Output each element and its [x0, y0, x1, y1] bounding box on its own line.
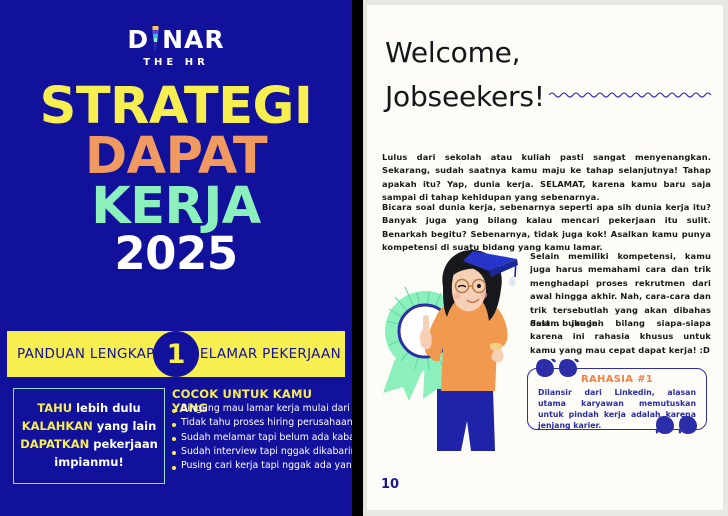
cover-title: STRATEGI DAPAT KERJA 2025 — [0, 82, 352, 276]
graduate-woman-illustration — [377, 243, 529, 453]
title-line-1: STRATEGI — [0, 82, 352, 132]
paragraph-1: Lulus dari sekolah atau kuliah pasti san… — [382, 151, 711, 205]
promise-rest: lebih dulu — [72, 401, 141, 415]
wavy-underline-icon — [549, 72, 712, 109]
book-gutter — [352, 0, 363, 516]
list-item-label: Sudah melamar tapi belum ada kabar — [181, 433, 352, 444]
promise-line: DAPATKAN pekerjaan — [20, 436, 158, 454]
brand-logo: D NAR THE HR — [0, 26, 352, 68]
necktie-icon — [150, 26, 161, 52]
page-number: 10 — [381, 477, 399, 492]
quote-close-icon — [654, 414, 700, 441]
list-item-label: Sudah interview tapi nggak dikabarin — [181, 447, 352, 458]
checklist: Bingung mau lamar kerja mulai dari mana … — [172, 404, 352, 476]
cover-banner: PANDUAN LENGKAP MELAMAR PEKERJAAN 1 — [7, 331, 345, 377]
page-title: Welcome, Jobseekers! — [385, 35, 712, 116]
book-content-page: Welcome, Jobseekers! Lulus dari sekolah … — [363, 0, 728, 516]
bullet-dot-icon — [172, 423, 176, 427]
title-line-2: DAPAT — [0, 132, 352, 182]
banner-right-label: MELAMAR PEKERJAAN — [188, 346, 345, 362]
quote-open-icon — [534, 357, 580, 384]
list-item: Sudah melamar tapi belum ada kabar — [172, 433, 352, 444]
promise-highlight: DAPATKAN — [20, 437, 89, 451]
title-line-4-year: 2025 — [0, 232, 352, 276]
book-cover-page: D NAR THE HR STRATEGI DAPAT KERJA 2025 — [0, 0, 352, 516]
promise-line: impianmu! — [54, 454, 123, 472]
promise-rest: impianmu! — [54, 455, 123, 469]
list-item: Pusing cari kerja tapi nggak ada yang te… — [172, 461, 352, 472]
list-item: Bingung mau lamar kerja mulai dari mana — [172, 404, 352, 415]
banner-number-badge: 1 — [153, 331, 199, 377]
logo-text-after: NAR — [162, 27, 225, 52]
promise-highlight: TAHU — [37, 401, 72, 415]
promise-line: KALAHKAN yang lain — [22, 418, 157, 436]
list-item-label: Bingung mau lamar kerja mulai dari mana — [181, 404, 352, 415]
banner-left-label: PANDUAN LENGKAP — [7, 346, 155, 362]
title-line-3: KERJA — [0, 182, 352, 232]
book-spread: D NAR THE HR STRATEGI DAPAT KERJA 2025 — [0, 0, 728, 516]
list-item-label: Tidak tahu proses hiring perusahaan — [181, 418, 352, 429]
bullet-dot-icon — [172, 409, 176, 413]
page-title-line-2: Jobseekers! — [385, 79, 545, 116]
list-item: Sudah interview tapi nggak dikabarin — [172, 447, 352, 458]
secret-tip-card: RAHASIA #1 Dilansir dari Linkedin, alasa… — [527, 368, 707, 430]
logo-wordmark: D NAR — [127, 26, 224, 52]
bullet-dot-icon — [172, 466, 176, 470]
promise-rest: pekerjaan — [89, 437, 158, 451]
page-title-line-1: Welcome, — [385, 35, 712, 72]
list-item: Tidak tahu proses hiring perusahaan — [172, 418, 352, 429]
list-item-label: Pusing cari kerja tapi nggak ada yang te… — [181, 461, 352, 472]
promise-rest: yang lain — [93, 419, 157, 433]
cover-promise-box: TAHU lebih dulu KALAHKAN yang lain DAPAT… — [13, 388, 165, 484]
logo-subtitle: THE HR — [143, 57, 209, 68]
bullet-dot-icon — [172, 451, 176, 455]
promise-highlight: KALAHKAN — [22, 419, 93, 433]
promise-line: TAHU lebih dulu — [37, 400, 141, 418]
bullet-dot-icon — [172, 437, 176, 441]
paragraph-4: Ssst... jangan bilang siapa-siapa karena… — [530, 317, 711, 357]
logo-text-before: D — [127, 27, 149, 52]
